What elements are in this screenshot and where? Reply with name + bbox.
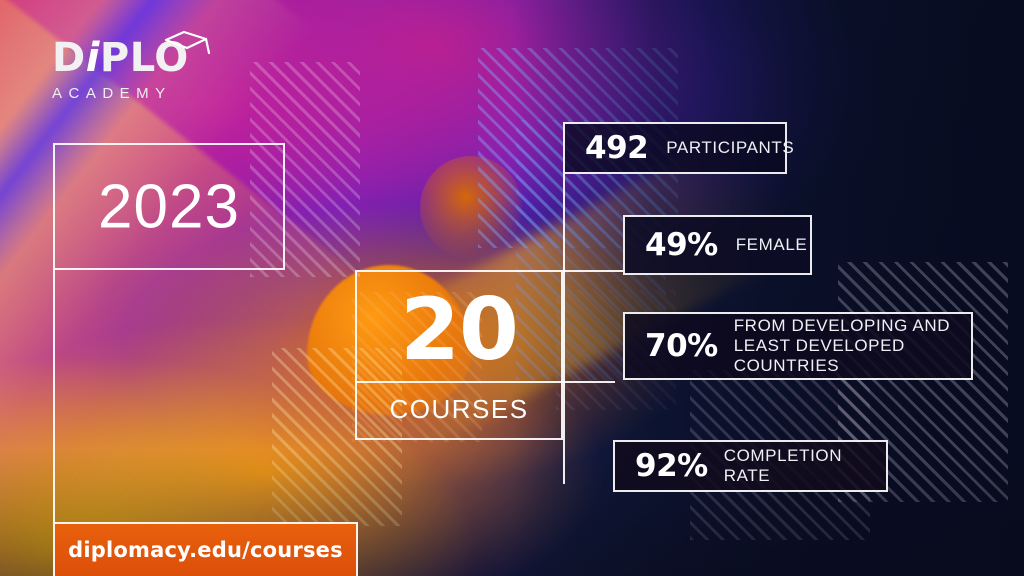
graduation-cap-icon [162, 20, 216, 46]
stat-developing-label: FROM DEVELOPING ANDLEAST DEVELOPED COUNT… [734, 316, 971, 376]
courses-panel: 20 COURSES [355, 270, 563, 440]
stat-developing-value: 70% [645, 328, 718, 364]
stat-participants: 492 PARTICIPANTS [563, 122, 787, 174]
stat-developing-label-line1: FROM DEVELOPING AND [734, 316, 950, 335]
stat-completion-value: 92% [635, 448, 708, 484]
diplo-academy-logo: DiPLO ACADEMY [52, 36, 212, 102]
stat-female-value: 49% [645, 227, 718, 263]
logo-letter-i: i [86, 35, 100, 81]
connector-horizontal-bottom [563, 381, 615, 383]
logo-subtitle: ACADEMY [52, 85, 212, 102]
courses-value: 20 [357, 278, 561, 382]
course-url-text[interactable]: diplomacy.edu/courses [55, 524, 356, 576]
year-panel: 2023 [53, 143, 285, 270]
stat-participants-label: PARTICIPANTS [666, 138, 794, 158]
connector-vertical [563, 174, 565, 484]
logo-wordmark: DiPLO [52, 36, 212, 80]
logo-letter-d: D [52, 35, 86, 81]
stat-participants-value: 492 [585, 130, 648, 166]
connector-horizontal-top [563, 270, 625, 272]
infographic-canvas: DiPLO ACADEMY 2023 20 COURSES 492 PARTIC… [0, 0, 1024, 576]
course-url-banner[interactable]: diplomacy.edu/courses [53, 522, 358, 576]
year-label: 2023 [55, 171, 283, 242]
stat-completion-label: COMPLETION RATE [724, 446, 886, 486]
stat-developing-countries: 70% FROM DEVELOPING ANDLEAST DEVELOPED C… [623, 312, 973, 380]
stat-female-label: FEMALE [736, 235, 808, 255]
courses-label: COURSES [357, 381, 561, 438]
stat-completion-rate: 92% COMPLETION RATE [613, 440, 888, 492]
courses-panel-divider [355, 381, 563, 383]
stat-developing-label-line2: LEAST DEVELOPED COUNTRIES [734, 336, 905, 375]
stat-female: 49% FEMALE [623, 215, 812, 275]
